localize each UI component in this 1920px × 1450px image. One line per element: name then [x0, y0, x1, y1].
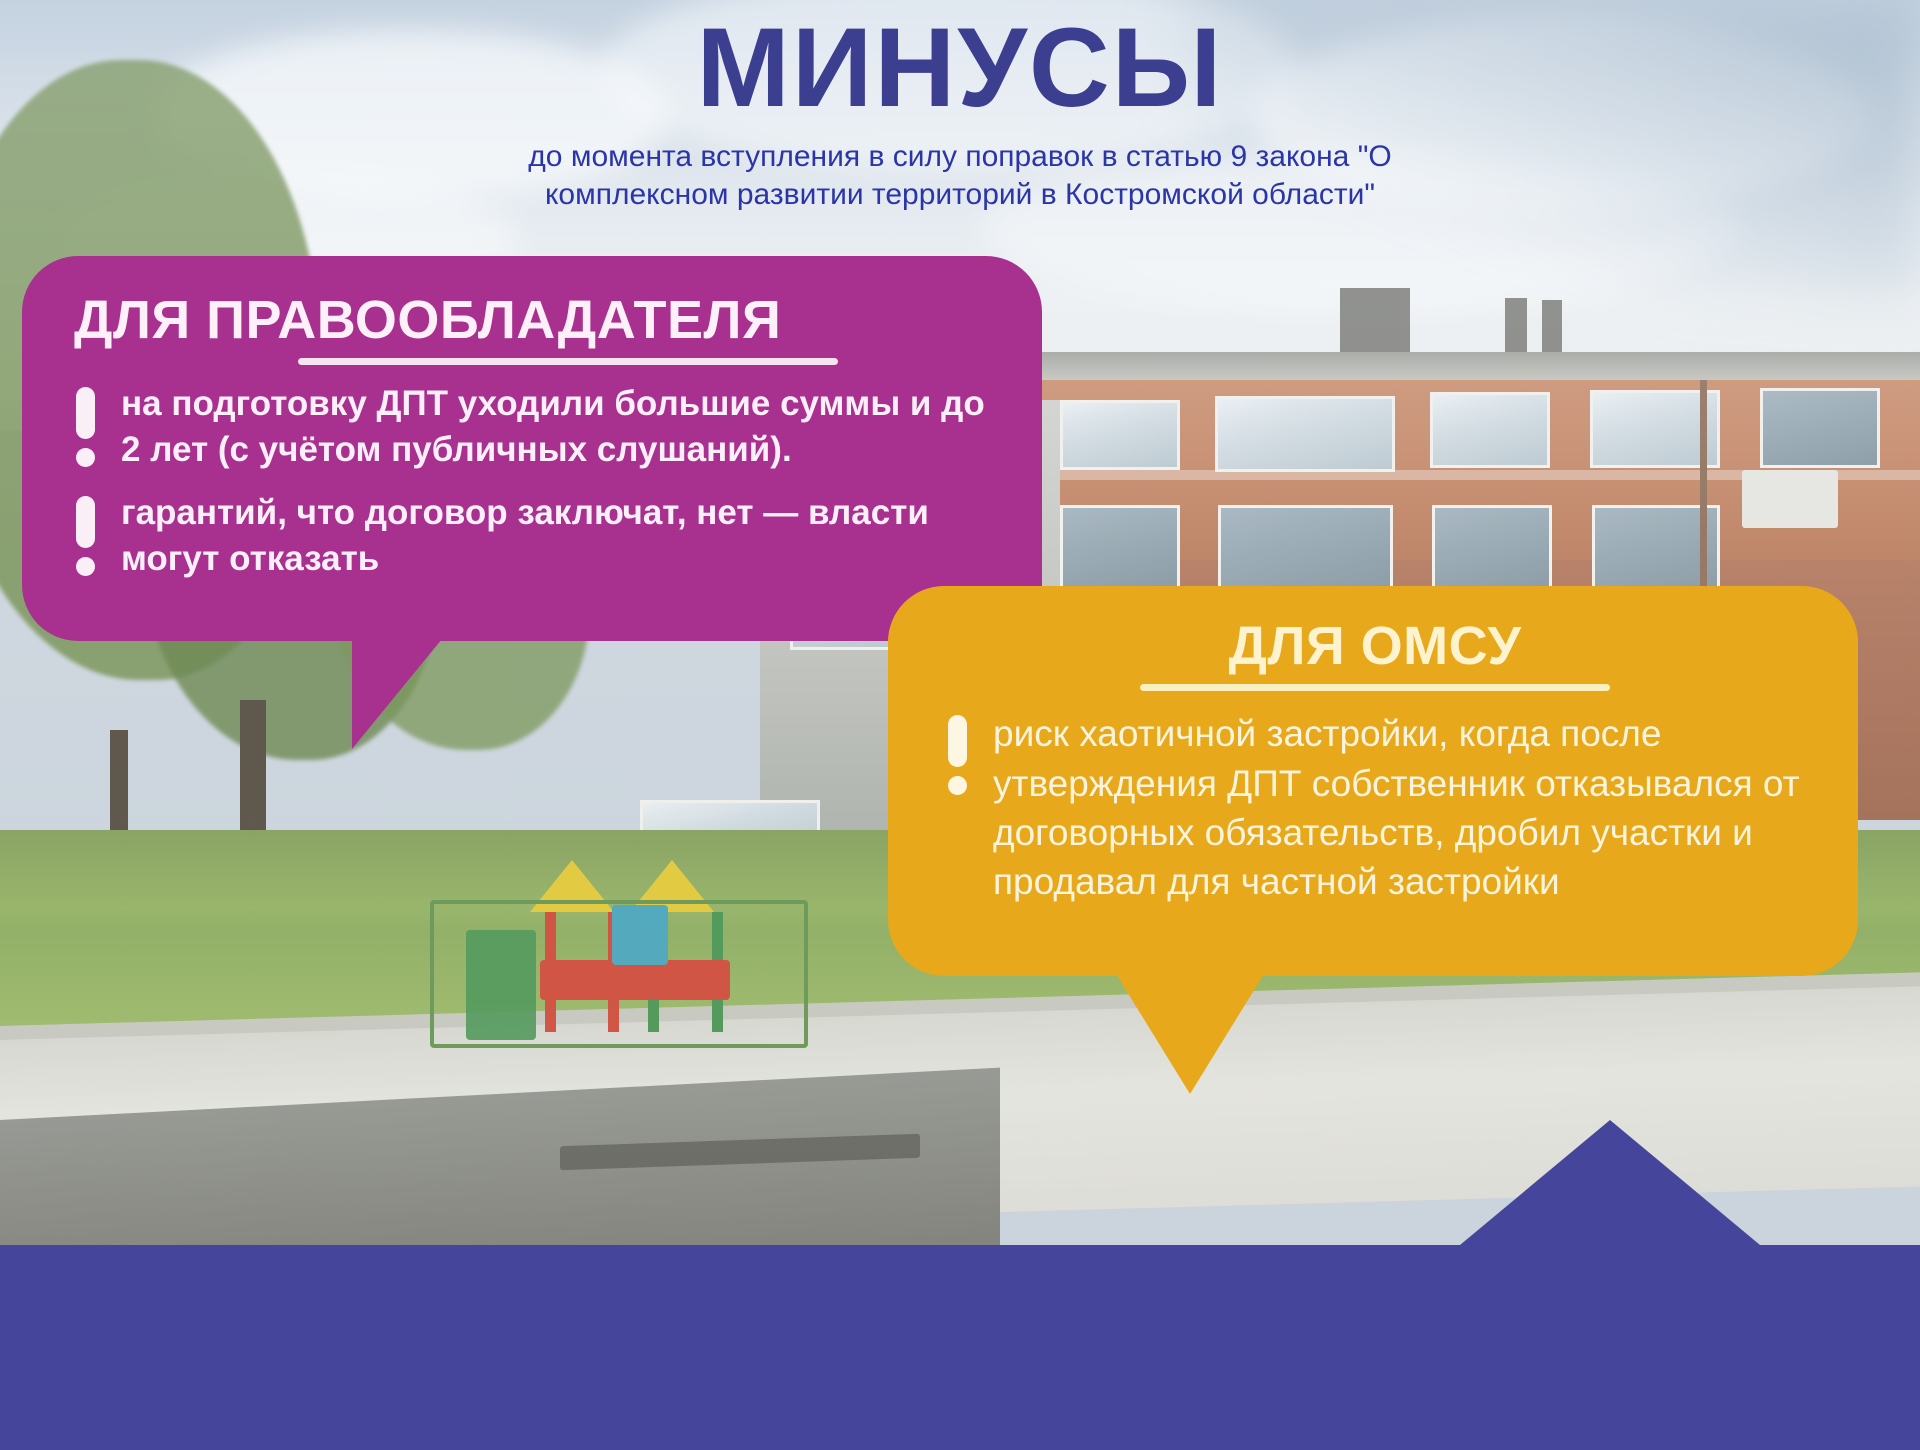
header: МИНУСЫ до момента вступления в силу попр… — [0, 0, 1920, 215]
subtitle-line-1: до момента вступления в силу поправок в … — [410, 138, 1510, 176]
list-item: риск хаотичной застройки, когда после ут… — [938, 709, 1812, 906]
bullet-text: риск хаотичной застройки, когда после ут… — [993, 709, 1812, 906]
band-peak — [1460, 1120, 1760, 1245]
heading-underline — [298, 358, 838, 365]
bullet-text: гарантий, что договор заключат, нет — вл… — [121, 490, 998, 581]
page-subtitle: до момента вступления в силу поправок в … — [410, 138, 1510, 215]
card-heading: ДЛЯ ПРАВООБЛАДАТЕЛЯ — [66, 290, 998, 350]
card-body: ДЛЯ ПРАВООБЛАДАТЕЛЯ на подготовку ДПТ ух… — [22, 256, 1042, 641]
heading-underline — [1140, 684, 1610, 691]
subtitle-line-2: комплексном развитии территорий в Костро… — [410, 176, 1510, 214]
exclamation-icon — [76, 387, 95, 467]
card-pravoobladatel: ДЛЯ ПРАВООБЛАДАТЕЛЯ на подготовку ДПТ ух… — [22, 256, 1042, 641]
bottom-band — [0, 1245, 1920, 1450]
exclamation-icon — [948, 715, 967, 795]
card-body: ДЛЯ ОМСУ риск хаотичной застройки, когда… — [888, 586, 1858, 976]
card-heading: ДЛЯ ОМСУ — [938, 616, 1812, 676]
card-omsu: ДЛЯ ОМСУ риск хаотичной застройки, когда… — [888, 586, 1858, 976]
bullet-list: на подготовку ДПТ уходили большие суммы … — [66, 381, 998, 581]
list-item: гарантий, что договор заключат, нет — вл… — [66, 490, 998, 581]
bullet-text: на подготовку ДПТ уходили большие суммы … — [121, 381, 998, 472]
page-title: МИНУСЫ — [0, 12, 1920, 124]
list-item: на подготовку ДПТ уходили большие суммы … — [66, 381, 998, 472]
speech-bubble-tail — [352, 639, 442, 749]
speech-bubble-tail — [1116, 974, 1264, 1094]
poster: МИНУСЫ до момента вступления в силу попр… — [0, 0, 1920, 1450]
bullet-list: риск хаотичной застройки, когда после ут… — [938, 709, 1812, 906]
exclamation-icon — [76, 496, 95, 576]
